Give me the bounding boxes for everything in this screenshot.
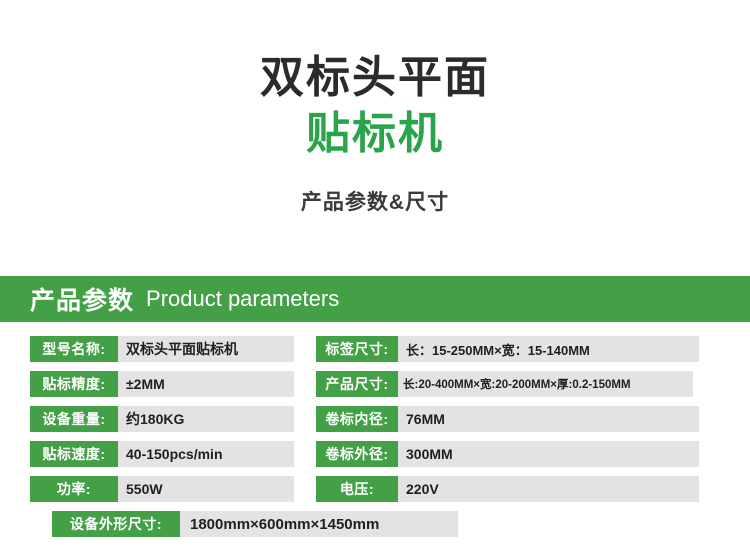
product-title-line-2: 贴标机 xyxy=(0,108,750,160)
param-cell-overall-dimensions: 设备外形尺寸: 1800mm×600mm×1450mm xyxy=(52,511,458,537)
param-value: 300MM xyxy=(398,441,699,467)
product-spec-page: 双标头平面 贴标机 产品参数&尺寸 产品参数 Product parameter… xyxy=(0,0,750,554)
param-value: 双标头平面贴标机 xyxy=(118,336,294,362)
param-label: 设备外形尺寸: xyxy=(52,511,180,537)
param-cell-roll-inner-diameter: 卷标内径: 76MM xyxy=(316,406,699,432)
param-label: 产品尺寸: xyxy=(316,371,398,397)
param-cell-label-accuracy: 贴标精度: ±2MM xyxy=(30,371,294,397)
parameters-table: 型号名称: 双标头平面贴标机 标签尺寸: 长：15-250MM×宽：15-140… xyxy=(0,336,750,546)
table-row: 设备重量: 约180KG 卷标内径: 76MM xyxy=(0,406,750,432)
param-cell-label-size: 标签尺寸: 长：15-250MM×宽：15-140MM xyxy=(316,336,699,362)
table-row: 功率: 550W 电压: 220V xyxy=(0,476,750,502)
param-cell-roll-outer-diameter: 卷标外径: 300MM xyxy=(316,441,699,467)
table-row-overall-dimensions: 设备外形尺寸: 1800mm×600mm×1450mm xyxy=(52,511,750,537)
param-value: 220V xyxy=(398,476,699,502)
param-label: 功率: xyxy=(30,476,118,502)
param-label: 卷标外径: xyxy=(316,441,398,467)
param-cell-product-size: 产品尺寸: 长:20-400MM×宽:20-200MM×厚:0.2-150MM xyxy=(316,371,693,397)
table-row: 贴标速度: 40-150pcs/min 卷标外径: 300MM xyxy=(0,441,750,467)
param-label: 设备重量: xyxy=(30,406,118,432)
param-label: 标签尺寸: xyxy=(316,336,398,362)
section-header-product-parameters: 产品参数 Product parameters xyxy=(0,276,750,322)
section-header-title-en: Product parameters xyxy=(146,286,339,312)
section-header-title-cn: 产品参数 xyxy=(30,281,134,317)
param-value: 76MM xyxy=(398,406,699,432)
param-label: 型号名称: xyxy=(30,336,118,362)
table-row: 型号名称: 双标头平面贴标机 标签尺寸: 长：15-250MM×宽：15-140… xyxy=(0,336,750,362)
param-value: 1800mm×600mm×1450mm xyxy=(180,511,458,537)
param-label: 电压: xyxy=(316,476,398,502)
param-value: 40-150pcs/min xyxy=(118,441,294,467)
param-value: 550W xyxy=(118,476,294,502)
product-title-line-1: 双标头平面 xyxy=(0,52,750,104)
param-cell-model-name: 型号名称: 双标头平面贴标机 xyxy=(30,336,294,362)
param-value: ±2MM xyxy=(118,371,294,397)
param-value: 长:20-400MM×宽:20-200MM×厚:0.2-150MM xyxy=(398,371,693,397)
param-cell-labeling-speed: 贴标速度: 40-150pcs/min xyxy=(30,441,294,467)
table-row: 贴标精度: ±2MM 产品尺寸: 长:20-400MM×宽:20-200MM×厚… xyxy=(0,371,750,397)
param-value: 约180KG xyxy=(118,406,294,432)
param-label: 贴标精度: xyxy=(30,371,118,397)
param-label: 卷标内径: xyxy=(316,406,398,432)
param-label: 贴标速度: xyxy=(30,441,118,467)
title-area: 双标头平面 贴标机 产品参数&尺寸 xyxy=(0,0,750,216)
param-cell-voltage: 电压: 220V xyxy=(316,476,699,502)
product-subtitle: 产品参数&尺寸 xyxy=(0,186,750,216)
param-cell-power: 功率: 550W xyxy=(30,476,294,502)
param-cell-machine-weight: 设备重量: 约180KG xyxy=(30,406,294,432)
param-value: 长：15-250MM×宽：15-140MM xyxy=(398,336,699,362)
